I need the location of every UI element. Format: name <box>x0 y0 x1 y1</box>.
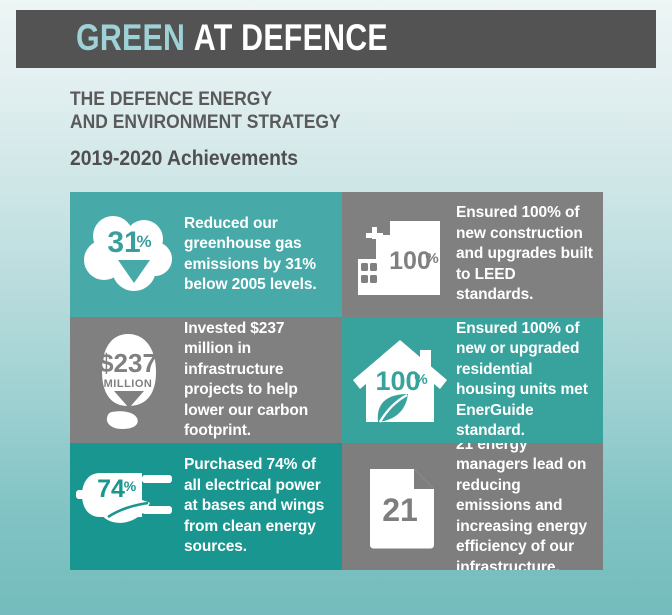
achievement-card-text: Purchased 74% of all electrical power at… <box>180 455 334 558</box>
svg-text:21: 21 <box>382 492 418 528</box>
achievement-card-greenhouse-gas: 31 % Reduced our greenhouse gas emission… <box>70 192 342 317</box>
page-title: GREEN AT DEFENCE <box>76 17 456 59</box>
achievement-card-clean-energy-power: 74 % Purchased 74% of all electrical pow… <box>70 443 342 570</box>
cloud-down-arrow-icon: 31 % <box>76 203 180 307</box>
buildings-icon: 100 % <box>348 203 452 307</box>
achievement-card-grid: 31 % Reduced our greenhouse gas emission… <box>70 192 603 570</box>
achievement-card-enerGuide-housing: 100 % Ensured 100% of new or upgraded re… <box>342 317 603 443</box>
svg-text:$237: $237 <box>99 348 157 378</box>
achievements-heading: 2019-2020 Achievements <box>70 147 490 171</box>
achievement-card-text: Ensured 100% of new construction and upg… <box>452 203 595 306</box>
svg-text:%: % <box>124 478 137 494</box>
achievement-card-text: Ensured 100% of new or upgraded resident… <box>452 319 595 442</box>
strategy-line-1: THE DEFENCE ENERGY <box>70 88 490 111</box>
achievement-card-text: Reduced our greenhouse gas emissions by … <box>180 214 334 296</box>
achievement-card-leed-construction: 100 % Ensured 100% of new construction a… <box>342 192 603 317</box>
strategy-line-2: AND ENVIRONMENT STRATEGY <box>70 111 490 134</box>
header-bar: GREEN AT DEFENCE <box>16 10 656 68</box>
svg-text:%: % <box>414 371 427 388</box>
achievement-card-infrastructure-investment: $237 MILLION Invested $237 million in in… <box>70 317 342 443</box>
document-icon: 21 <box>348 455 452 559</box>
achievement-card-text: Invested $237 million in infrastructure … <box>180 319 334 442</box>
page-title-accent: GREEN <box>76 17 185 58</box>
subtitle-block: THE DEFENCE ENERGY AND ENVIRONMENT STRAT… <box>70 88 490 171</box>
page-title-rest: AT DEFENCE <box>194 17 388 58</box>
achievement-card-energy-managers: 21 21 energy managers lead on reducing e… <box>342 443 603 570</box>
svg-text:MILLION: MILLION <box>104 378 153 390</box>
infographic-poster: GREEN AT DEFENCE THE DEFENCE ENERGY AND … <box>0 0 672 615</box>
svg-text:%: % <box>136 232 151 251</box>
footprint-down-arrow-icon: $237 MILLION <box>76 328 180 432</box>
svg-text:%: % <box>425 250 438 267</box>
achievement-card-text: 21 energy managers lead on reducing emis… <box>452 443 595 570</box>
plug-leaf-icon: 74 % <box>76 455 180 559</box>
house-leaf-icon: 100 % <box>348 328 452 432</box>
